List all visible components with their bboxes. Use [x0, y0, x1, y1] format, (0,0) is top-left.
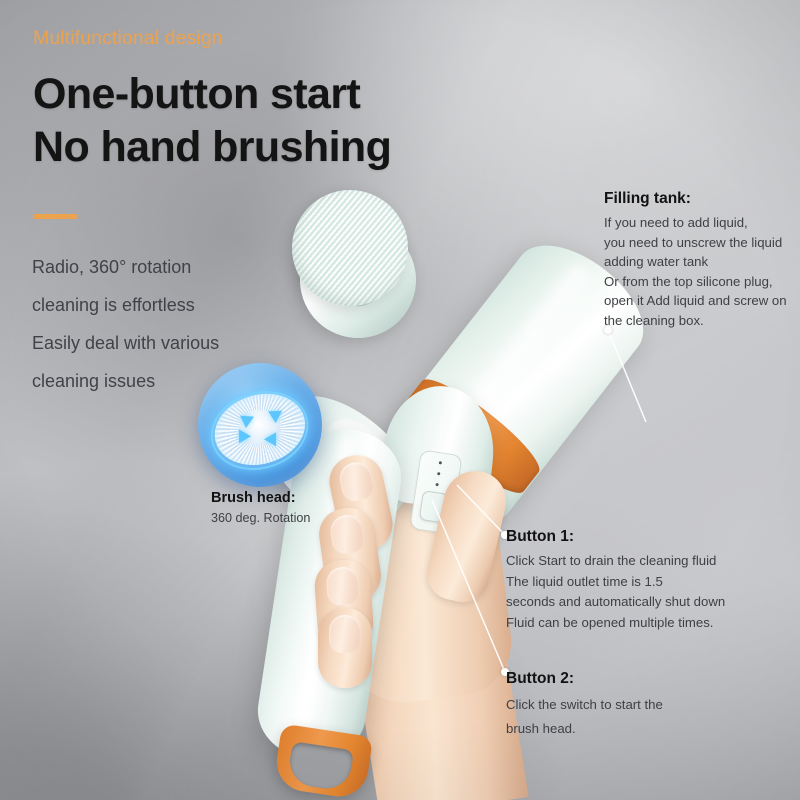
callout-line: Click the switch to start the	[506, 693, 663, 717]
callout-line: If you need to add liquid,	[604, 213, 787, 233]
callout-line: open it Add liquid and screw on	[604, 291, 787, 311]
accent-divider	[33, 214, 77, 219]
callout-line: the cleaning box.	[604, 311, 787, 331]
callout-line: you need to unscrew the liquid	[604, 233, 787, 253]
subcopy-line: cleaning issues	[32, 362, 219, 400]
callout-body: If you need to add liquid, you need to u…	[604, 213, 787, 330]
callout-body: Click the switch to start the brush head…	[506, 693, 663, 741]
callout-line: seconds and automatically shut down	[506, 592, 725, 613]
callout-line: Click Start to drain the cleaning fluid	[506, 551, 725, 572]
callout-title: Button 1:	[506, 528, 725, 546]
callout-brush-head: Brush head: 360 deg. Rotation	[211, 490, 310, 529]
feature-subcopy: Radio, 360° rotation cleaning is effortl…	[32, 248, 219, 400]
callout-filling-tank: Filling tank: If you need to add liquid,…	[604, 190, 787, 330]
subcopy-line: cleaning is effortless	[32, 286, 219, 324]
callout-line: 360 deg. Rotation	[211, 509, 310, 529]
page-title: One-button start No hand brushing	[33, 68, 391, 175]
headline-line-1: One-button start	[33, 68, 391, 121]
callout-line: Or from the top silicone plug,	[604, 272, 787, 292]
callout-line: adding water tank	[604, 252, 787, 272]
callout-button-2: Button 2: Click the switch to start the …	[506, 670, 663, 741]
callout-body: Click Start to drain the cleaning fluid …	[506, 551, 725, 633]
subcopy-line: Radio, 360° rotation	[32, 248, 219, 286]
callout-body: 360 deg. Rotation	[211, 509, 310, 529]
headline-line-2: No hand brushing	[33, 121, 391, 174]
callout-title: Button 2:	[506, 670, 663, 688]
callout-line: The liquid outlet time is 1.5	[506, 572, 725, 593]
callout-title: Filling tank:	[604, 190, 787, 208]
eyebrow-text: Multifunctional design	[33, 27, 223, 50]
callout-title: Brush head:	[211, 490, 310, 506]
callout-line: brush head.	[506, 717, 663, 741]
callout-line: Fluid can be opened multiple times.	[506, 613, 725, 634]
product-feature-poster: Multifunctional design One-button start …	[0, 0, 800, 800]
subcopy-line: Easily deal with various	[32, 324, 219, 362]
callout-button-1: Button 1: Click Start to drain the clean…	[506, 528, 725, 633]
